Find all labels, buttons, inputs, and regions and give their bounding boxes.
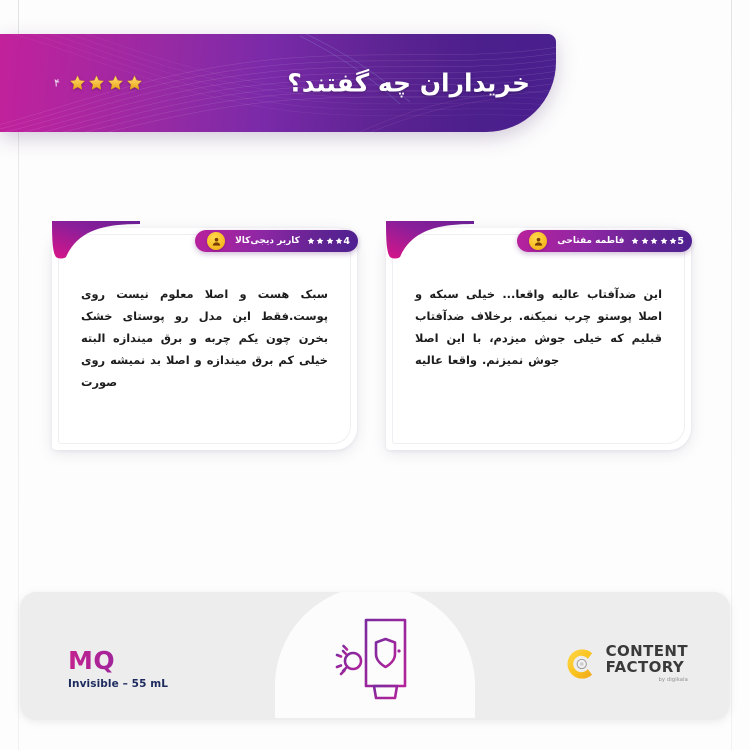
header-star-group	[69, 75, 143, 92]
header-banner: خریداران چه گفتند؟ ۴	[0, 34, 556, 132]
content-factory-c-icon	[561, 645, 599, 683]
star-icon	[126, 75, 143, 92]
logo-byline: by digikala	[659, 678, 688, 683]
banner-title: خریداران چه گفتند؟	[287, 69, 530, 98]
star-icon	[641, 237, 649, 245]
review-card-inner: 5 فاطمه مفتاحی این ضدآفتاب عالیه واقعا.	[392, 234, 685, 444]
content-factory-logo: CONTENT FACTORY by digikala	[561, 644, 688, 683]
star-icon	[88, 75, 105, 92]
badge-star-group	[631, 237, 677, 245]
badge-star-group	[307, 237, 344, 245]
user-avatar-icon	[207, 232, 225, 250]
star-icon	[307, 237, 315, 245]
brand-block: MQ Invisible – 55 mL	[68, 648, 168, 690]
product-variant-text: Invisible – 55 mL	[68, 678, 168, 690]
star-icon	[669, 237, 677, 245]
star-icon	[631, 237, 639, 245]
review-body-text: این ضدآفتاب عالیه واقعا... خیلی سبکه و ا…	[415, 283, 662, 371]
sunscreen-tube-icon	[319, 606, 431, 706]
review-card-inner: 4 کاربر دیجی‌کالا سبک هست و اصلا معلوم ن…	[58, 234, 351, 444]
user-avatar-icon	[529, 232, 547, 250]
star-icon	[326, 237, 334, 245]
poster-canvas: خریداران چه گفتند؟ ۴	[0, 0, 750, 750]
content-factory-wordmark: CONTENT FACTORY by digikala	[606, 644, 688, 683]
review-body-text: سبک هست و اصلا معلوم نیست روی پوست.فقط ا…	[81, 283, 328, 393]
header-banner-bg: خریداران چه گفتند؟ ۴	[0, 34, 556, 132]
header-rating-value: ۴	[54, 77, 60, 90]
star-icon	[107, 75, 124, 92]
footer-bar: MQ Invisible – 55 mL CONTENT FA	[20, 592, 730, 720]
brand-logo-text: MQ	[68, 648, 168, 673]
star-icon	[69, 75, 86, 92]
user-glyph-icon	[533, 236, 544, 247]
logo-line-1: CONTENT	[606, 644, 688, 659]
review-card[interactable]: 4 کاربر دیجی‌کالا سبک هست و اصلا معلوم ن…	[52, 228, 357, 450]
star-icon	[650, 237, 658, 245]
star-icon	[316, 237, 324, 245]
star-icon	[335, 237, 343, 245]
reviewer-badge: 5 فاطمه مفتاحی	[517, 230, 692, 252]
user-glyph-icon	[211, 236, 222, 247]
badge-rating-value: 4	[343, 236, 350, 247]
star-icon	[660, 237, 668, 245]
reviewer-badge: 4 کاربر دیجی‌کالا	[195, 230, 358, 252]
logo-line-2: FACTORY	[606, 660, 688, 675]
review-card[interactable]: 5 فاطمه مفتاحی این ضدآفتاب عالیه واقعا.	[386, 228, 691, 450]
reviewer-name: کاربر دیجی‌کالا	[235, 236, 300, 246]
reviewer-name: فاطمه مفتاحی	[557, 236, 624, 246]
badge-rating-value: 5	[677, 236, 684, 247]
header-rating: ۴	[54, 75, 143, 92]
frame-guide-right	[731, 0, 732, 750]
